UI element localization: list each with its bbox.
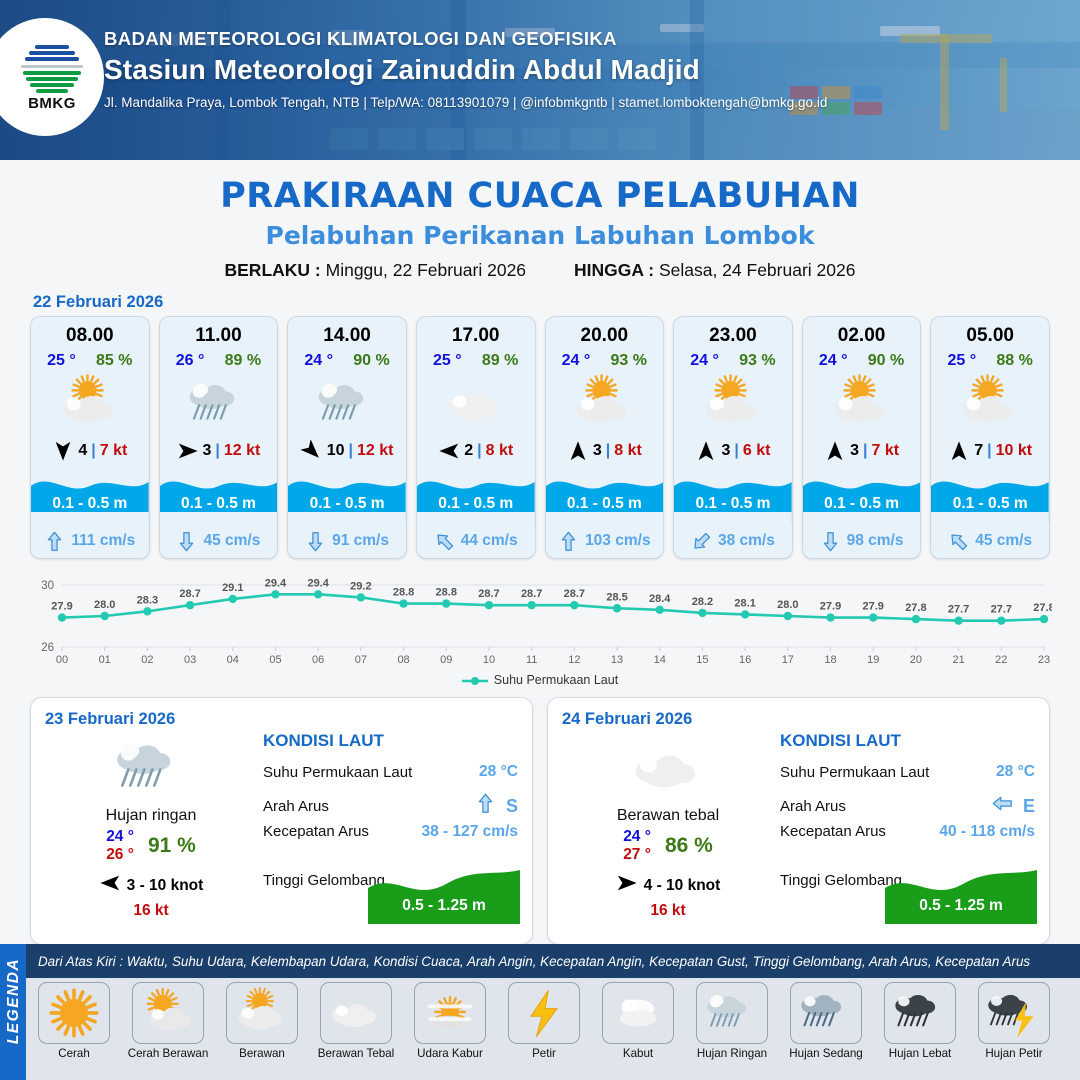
- wind-speed: 12 kt: [224, 442, 260, 460]
- daily-condition: Hujan ringan: [45, 807, 257, 825]
- svg-text:27.9: 27.9: [863, 601, 884, 613]
- daily-temp-min: 24 °: [106, 828, 134, 846]
- svg-text:28.7: 28.7: [478, 588, 499, 600]
- berlaku-label: BERLAKU :: [225, 260, 321, 280]
- svg-text:18: 18: [824, 654, 836, 666]
- wind-direction-icon: [948, 440, 970, 462]
- card-humidity: 88 %: [996, 352, 1032, 370]
- weather-cloud-icon: [562, 731, 774, 805]
- sst-chart-svg: 263027.928.028.328.729.129.429.429.228.8…: [28, 573, 1052, 669]
- sst-value: 28 °C: [996, 763, 1035, 781]
- svg-text:17: 17: [782, 654, 794, 666]
- svg-text:27.7: 27.7: [948, 604, 969, 616]
- svg-text:26: 26: [41, 642, 54, 654]
- wave-height-band: 0.1 - 0.5 m: [417, 468, 535, 524]
- svg-text:28.0: 28.0: [777, 599, 798, 611]
- legend-item-label: Cerah: [30, 1047, 118, 1060]
- weather-rain-light-icon: [696, 982, 768, 1044]
- legend-side-title: LEGENDA: [0, 944, 26, 1080]
- legend-item-label: Hujan Ringan: [688, 1047, 776, 1060]
- card-time: 20.00: [546, 317, 664, 347]
- legend-item: Cerah Berawan: [124, 982, 212, 1060]
- daily-condition: Berawan tebal: [562, 807, 774, 825]
- current-speed-label: Kecepatan Arus: [263, 823, 369, 840]
- daily-current-direction-icon: [475, 793, 496, 819]
- legend-note-text: Dari Atas Kiri : Waktu, Suhu Udara, Kele…: [38, 954, 1030, 969]
- card-time: 02.00: [803, 317, 921, 347]
- hourly-card: 08.00 25 ° 85 % 4 | 7 kt 0.1 - 0: [30, 316, 150, 559]
- sst-value: 28 °C: [479, 763, 518, 781]
- wave-height-band: 0.1 - 0.5 m: [160, 468, 278, 524]
- weather-sun-cloud-icon: [546, 372, 664, 436]
- card-humidity: 90 %: [868, 352, 904, 370]
- wave-height-value: 0.1 - 0.5 m: [803, 495, 921, 513]
- legend-item-label: Kabut: [594, 1047, 682, 1060]
- wave-height-label: Tinggi Gelombang: [780, 872, 902, 889]
- card-time: 17.00: [417, 317, 535, 347]
- wind-degree: 3: [721, 442, 730, 460]
- wave-height-band: 0.1 - 0.5 m: [931, 468, 1049, 524]
- svg-text:10: 10: [483, 654, 495, 666]
- svg-text:27.9: 27.9: [820, 601, 841, 613]
- svg-text:14: 14: [654, 654, 666, 666]
- svg-text:13: 13: [611, 654, 623, 666]
- card-humidity: 85 %: [96, 352, 132, 370]
- weather-rain-heavy-icon: [884, 982, 956, 1044]
- daily-humidity: 86 %: [665, 834, 713, 858]
- svg-text:00: 00: [56, 654, 68, 666]
- wind-degree: 4: [78, 442, 87, 460]
- hourly-date-label: 22 Februari 2026: [33, 293, 1080, 312]
- weather-sun-cloud-icon: [31, 372, 149, 436]
- daily-wave-badge: 0.5 - 1.25 m: [885, 862, 1037, 924]
- card-temperature: 24 °: [304, 352, 333, 370]
- weather-rain-light-icon: [45, 731, 257, 805]
- wind-speed: 12 kt: [357, 442, 393, 460]
- legend-item: Udara Kabur: [406, 982, 494, 1060]
- wave-height-value: 0.1 - 0.5 m: [288, 495, 406, 513]
- wind-degree: 7: [974, 442, 983, 460]
- current-speed: 98 cm/s: [847, 532, 904, 550]
- wind-degree: 10: [327, 442, 345, 460]
- daily-temp-max: 27 °: [623, 846, 651, 864]
- legend-item-label: Berawan Tebal: [312, 1047, 400, 1060]
- weather-rain-light-icon: [288, 372, 406, 436]
- daily-wave-value: 0.5 - 1.25 m: [368, 897, 520, 915]
- daily-current-direction-icon: [992, 793, 1013, 819]
- daily-forecast-card: 23 Februari 2026 Hujan ringan 24 ° 26 ° …: [30, 697, 533, 945]
- current-speed: 45 cm/s: [975, 532, 1032, 550]
- wind-separator: |: [477, 442, 481, 460]
- wind-direction-icon: [52, 440, 74, 462]
- hourly-card: 02.00 24 ° 90 % 3 | 7 kt 0.1 - 0: [802, 316, 922, 559]
- daily-forecast-card: 24 Februari 2026 Berawan tebal 24 ° 27 °…: [547, 697, 1050, 945]
- daily-wind-range: 3 - 10 knot: [127, 877, 204, 895]
- card-temperature: 24 °: [562, 352, 591, 370]
- card-temperature: 25 °: [47, 352, 76, 370]
- wind-degree: 3: [203, 442, 212, 460]
- svg-text:29.1: 29.1: [222, 582, 243, 594]
- svg-text:12: 12: [568, 654, 580, 666]
- weather-sun-cloud-icon: [226, 982, 298, 1044]
- svg-text:28.3: 28.3: [137, 594, 158, 606]
- wind-direction-icon: [438, 440, 460, 462]
- legend-items: Cerah Cerah Berawan Berawan Berawan: [30, 982, 1074, 1060]
- legend-item: Hujan Sedang: [782, 982, 870, 1060]
- weather-rain-light-icon: [160, 372, 278, 436]
- svg-text:27.8: 27.8: [905, 602, 926, 614]
- weather-sun-cloud-small-icon: [132, 982, 204, 1044]
- daily-temp-max: 26 °: [106, 846, 134, 864]
- legend-item-label: Hujan Petir: [970, 1047, 1058, 1060]
- svg-text:27.7: 27.7: [991, 604, 1012, 616]
- current-direction-icon: [691, 531, 712, 552]
- wind-separator: |: [606, 442, 610, 460]
- svg-text:28.5: 28.5: [606, 591, 627, 603]
- sea-condition-title: KONDISI LAUT: [263, 731, 518, 751]
- hourly-card: 23.00 24 ° 93 % 3 | 6 kt 0.1 - 0: [673, 316, 793, 559]
- weather-haze-icon: [414, 982, 486, 1044]
- card-humidity: 93 %: [611, 352, 647, 370]
- svg-text:27.9: 27.9: [51, 601, 72, 613]
- wave-height-band: 0.1 - 0.5 m: [546, 468, 664, 524]
- hourly-card: 20.00 24 ° 93 % 3 | 8 kt 0.1 - 0: [545, 316, 665, 559]
- wave-height-value: 0.1 - 0.5 m: [417, 495, 535, 513]
- card-time: 11.00: [160, 317, 278, 347]
- wave-height-value: 0.1 - 0.5 m: [31, 495, 149, 513]
- svg-text:29.4: 29.4: [265, 577, 287, 589]
- card-time: 14.00: [288, 317, 406, 347]
- daily-date: 23 Februari 2026: [45, 710, 518, 729]
- wind-separator: |: [215, 442, 219, 460]
- card-time: 08.00: [31, 317, 149, 347]
- svg-text:04: 04: [227, 654, 239, 666]
- hourly-card: 11.00 26 ° 89 % 3 | 12 kt 0.1 -: [159, 316, 279, 559]
- berlaku-value: Minggu, 22 Februari 2026: [326, 260, 526, 280]
- current-speed: 38 cm/s: [718, 532, 775, 550]
- weather-lightning-icon: [508, 982, 580, 1044]
- legend-side-title-text: LEGENDA: [5, 949, 23, 1053]
- station-name: Stasiun Meteorologi Zainuddin Abdul Madj…: [104, 54, 1064, 86]
- svg-text:28.1: 28.1: [734, 597, 755, 609]
- legend-item: Cerah: [30, 982, 118, 1060]
- current-speed-value: 38 - 127 cm/s: [421, 823, 518, 841]
- card-time: 05.00: [931, 317, 1049, 347]
- wind-direction-icon: [695, 440, 717, 462]
- legend-item: Berawan: [218, 982, 306, 1060]
- svg-text:15: 15: [696, 654, 708, 666]
- current-direction-icon: [176, 531, 197, 552]
- daily-temp-min: 24 °: [623, 828, 651, 846]
- daily-wind-direction-icon: [616, 872, 638, 899]
- hingga-label: HINGGA :: [574, 260, 654, 280]
- daily-wave-badge: 0.5 - 1.25 m: [368, 862, 520, 924]
- wave-height-band: 0.1 - 0.5 m: [674, 468, 792, 524]
- svg-text:11: 11: [526, 654, 537, 666]
- current-direction-icon: [305, 531, 326, 552]
- current-direction-icon: [434, 531, 455, 552]
- legend-item-label: Berawan: [218, 1047, 306, 1060]
- weather-rain-thunder-icon: [978, 982, 1050, 1044]
- current-speed: 45 cm/s: [203, 532, 260, 550]
- weather-rain-moderate-icon: [790, 982, 862, 1044]
- card-temperature: 24 °: [690, 352, 719, 370]
- svg-text:28.7: 28.7: [521, 588, 542, 600]
- current-speed: 91 cm/s: [332, 532, 389, 550]
- wind-direction-icon: [301, 440, 323, 462]
- wind-direction-icon: [567, 440, 589, 462]
- svg-text:28.2: 28.2: [692, 596, 713, 608]
- current-direction-label: Arah Arus: [263, 798, 329, 815]
- current-direction-icon: [558, 531, 579, 552]
- daily-gust: 16 kt: [45, 902, 257, 920]
- svg-text:29.2: 29.2: [350, 580, 371, 592]
- current-direction-value: E: [1023, 796, 1035, 817]
- svg-text:29.4: 29.4: [307, 577, 329, 589]
- wind-degree: 3: [850, 442, 859, 460]
- page-subtitle: Pelabuhan Perikanan Labuhan Lombok: [0, 221, 1080, 250]
- svg-text:28.7: 28.7: [564, 588, 585, 600]
- weather-cloud-icon: [417, 372, 535, 436]
- daily-humidity: 91 %: [148, 834, 196, 858]
- sst-label: Suhu Permukaan Laut: [263, 764, 412, 781]
- chart-legend: Suhu Permukaan Laut: [0, 673, 1080, 687]
- weather-cloud-icon: [320, 982, 392, 1044]
- svg-text:19: 19: [867, 654, 879, 666]
- wave-height-value: 0.1 - 0.5 m: [546, 495, 664, 513]
- wind-direction-icon: [177, 440, 199, 462]
- daily-wind-direction-icon: [99, 872, 121, 899]
- chart-legend-marker: [462, 675, 488, 685]
- legend-note: Dari Atas Kiri : Waktu, Suhu Udara, Kele…: [26, 944, 1080, 978]
- svg-text:09: 09: [440, 654, 452, 666]
- wind-separator: |: [348, 442, 352, 460]
- contact-info: Jl. Mandalika Praya, Lombok Tengah, NTB …: [104, 95, 1064, 110]
- wave-height-band: 0.1 - 0.5 m: [288, 468, 406, 524]
- svg-text:01: 01: [99, 654, 111, 666]
- current-speed: 111 cm/s: [71, 532, 135, 550]
- sea-condition-title: KONDISI LAUT: [780, 731, 1035, 751]
- card-humidity: 89 %: [482, 352, 518, 370]
- page-header: BMKG BADAN METEOROLOGI KLIMATOLOGI DAN G…: [0, 0, 1080, 160]
- validity-range: BERLAKU : Minggu, 22 Februari 2026 HINGG…: [0, 260, 1080, 281]
- daily-date: 24 Februari 2026: [562, 710, 1035, 729]
- legend-item: Petir: [500, 982, 588, 1060]
- card-humidity: 90 %: [353, 352, 389, 370]
- legend-item-label: Udara Kabur: [406, 1047, 494, 1060]
- legend-item: Berawan Tebal: [312, 982, 400, 1060]
- wind-separator: |: [734, 442, 738, 460]
- svg-text:05: 05: [269, 654, 281, 666]
- bmkg-logo-mark: [21, 43, 83, 93]
- current-speed: 44 cm/s: [461, 532, 518, 550]
- wind-direction-icon: [824, 440, 846, 462]
- svg-text:27.8: 27.8: [1033, 602, 1052, 614]
- card-humidity: 93 %: [739, 352, 775, 370]
- current-speed-value: 40 - 118 cm/s: [939, 823, 1035, 841]
- chart-legend-label: Suhu Permukaan Laut: [494, 673, 618, 687]
- current-speed: 103 cm/s: [585, 532, 651, 550]
- legend-item: Kabut: [594, 982, 682, 1060]
- legend-item-label: Cerah Berawan: [124, 1047, 212, 1060]
- card-time: 23.00: [674, 317, 792, 347]
- card-temperature: 25 °: [948, 352, 977, 370]
- wind-speed: 7 kt: [871, 442, 899, 460]
- hourly-card: 17.00 25 ° 89 % 2 | 8 kt 0.1 - 0: [416, 316, 536, 559]
- card-humidity: 89 %: [225, 352, 261, 370]
- weather-sun-icon: [38, 982, 110, 1044]
- page-title: PRAKIRAAN CUACA PELABUHAN: [0, 176, 1080, 216]
- svg-text:28.8: 28.8: [393, 587, 414, 599]
- wind-speed: 10 kt: [996, 442, 1032, 460]
- legend-bar: LEGENDA Dari Atas Kiri : Waktu, Suhu Uda…: [0, 944, 1080, 1080]
- wind-separator: |: [91, 442, 95, 460]
- card-temperature: 24 °: [819, 352, 848, 370]
- sst-label: Suhu Permukaan Laut: [780, 764, 929, 781]
- svg-text:28.8: 28.8: [436, 587, 457, 599]
- daily-gust: 16 kt: [562, 902, 774, 920]
- wave-height-value: 0.1 - 0.5 m: [674, 495, 792, 513]
- legend-item: Hujan Lebat: [876, 982, 964, 1060]
- wind-speed: 8 kt: [486, 442, 514, 460]
- current-direction-icon: [948, 531, 969, 552]
- weather-sun-cloud-icon: [674, 372, 792, 436]
- weather-sun-cloud-icon: [803, 372, 921, 436]
- hingga-value: Selasa, 24 Februari 2026: [659, 260, 856, 280]
- title-block: PRAKIRAAN CUACA PELABUHAN Pelabuhan Peri…: [0, 176, 1080, 281]
- wave-height-band: 0.1 - 0.5 m: [803, 468, 921, 524]
- daily-forecast-panels: 23 Februari 2026 Hujan ringan 24 ° 26 ° …: [0, 687, 1080, 945]
- wind-separator: |: [987, 442, 991, 460]
- legend-item-label: Hujan Sedang: [782, 1047, 870, 1060]
- hourly-card: 14.00 24 ° 90 % 10 | 12 kt 0.1 -: [287, 316, 407, 559]
- sst-chart: 263027.928.028.328.729.129.429.429.228.8…: [28, 573, 1052, 669]
- card-temperature: 26 °: [176, 352, 205, 370]
- svg-text:28.4: 28.4: [649, 593, 671, 605]
- svg-text:02: 02: [141, 654, 153, 666]
- wind-speed: 8 kt: [614, 442, 642, 460]
- svg-text:16: 16: [739, 654, 751, 666]
- svg-text:28.0: 28.0: [94, 599, 115, 611]
- svg-text:23: 23: [1038, 654, 1050, 666]
- card-temperature: 25 °: [433, 352, 462, 370]
- wind-separator: |: [863, 442, 867, 460]
- current-direction-value: S: [506, 796, 518, 817]
- current-direction-label: Arah Arus: [780, 798, 846, 815]
- svg-text:03: 03: [184, 654, 196, 666]
- weather-fog-icon: [602, 982, 674, 1044]
- legend-item-label: Hujan Lebat: [876, 1047, 964, 1060]
- svg-text:28.7: 28.7: [179, 588, 200, 600]
- svg-text:07: 07: [355, 654, 367, 666]
- svg-text:06: 06: [312, 654, 324, 666]
- current-direction-icon: [44, 531, 65, 552]
- hourly-forecast-list: 08.00 25 ° 85 % 4 | 7 kt 0.1 - 0: [0, 316, 1080, 559]
- wave-height-value: 0.1 - 0.5 m: [160, 495, 278, 513]
- legend-item-label: Petir: [500, 1047, 588, 1060]
- current-direction-icon: [820, 531, 841, 552]
- hourly-card: 05.00 25 ° 88 % 7 | 10 kt 0.1 -: [930, 316, 1050, 559]
- svg-text:20: 20: [910, 654, 922, 666]
- legend-item: Hujan Petir: [970, 982, 1058, 1060]
- wave-height-value: 0.1 - 0.5 m: [931, 495, 1049, 513]
- svg-text:22: 22: [995, 654, 1007, 666]
- svg-text:08: 08: [397, 654, 409, 666]
- legend-item: Hujan Ringan: [688, 982, 776, 1060]
- svg-text:30: 30: [41, 580, 54, 592]
- bmkg-logo-text: BMKG: [28, 95, 76, 112]
- wave-height-band: 0.1 - 0.5 m: [31, 468, 149, 524]
- weather-sun-cloud-icon: [931, 372, 1049, 436]
- wind-degree: 2: [464, 442, 473, 460]
- wind-degree: 3: [593, 442, 602, 460]
- wind-speed: 7 kt: [100, 442, 128, 460]
- daily-wave-value: 0.5 - 1.25 m: [885, 897, 1037, 915]
- daily-wind-range: 4 - 10 knot: [644, 877, 721, 895]
- svg-text:21: 21: [952, 654, 964, 666]
- agency-name: BADAN METEOROLOGI KLIMATOLOGI DAN GEOFIS…: [104, 28, 1064, 50]
- current-speed-label: Kecepatan Arus: [780, 823, 886, 840]
- wind-speed: 6 kt: [743, 442, 771, 460]
- wave-height-label: Tinggi Gelombang: [263, 872, 385, 889]
